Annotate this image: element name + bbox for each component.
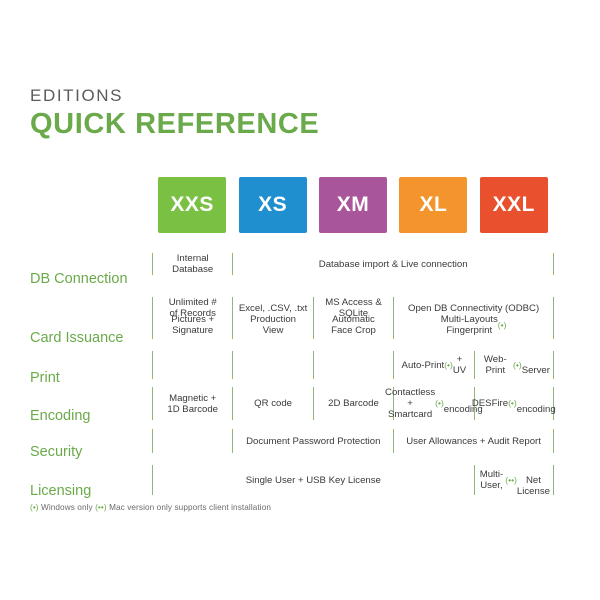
- row-cells: Single User + USB Key LicenseMulti-User,…: [152, 465, 554, 495]
- matrix-subrow: Magnetic +1D BarcodeQR code2D BarcodeCon…: [152, 387, 554, 420]
- matrix-cell: Auto-Print (•) +UV: [393, 351, 473, 379]
- row-label-encoding: Encoding: [30, 408, 90, 424]
- matrix-cell: [152, 351, 232, 379]
- matrix-row: DB ConnectionInternalDatabaseDatabase im…: [0, 253, 600, 297]
- matrix-cell: Contactless +Smartcard (•)encoding: [393, 387, 473, 420]
- matrix-cell: [232, 351, 312, 379]
- edition-tile-label: XL: [399, 177, 467, 233]
- row-label-security: Security: [30, 444, 82, 460]
- row-cells: InternalDatabaseDatabase import & Live c…: [152, 253, 554, 297]
- edition-tiles: XXSXSXMXLXXL: [152, 176, 554, 234]
- matrix-cell: Document Password Protection: [232, 429, 393, 453]
- matrix-subrow: Single User + USB Key LicenseMulti-User,…: [152, 465, 554, 495]
- matrix-cell: Single User + USB Key License: [152, 465, 474, 495]
- edition-tile-label: XS: [239, 177, 307, 233]
- title-heading: QUICK REFERENCE: [30, 107, 319, 141]
- matrix-cell: QR code: [232, 387, 312, 420]
- row-label-card-issuance: Card Issuance: [30, 330, 124, 346]
- page-title: EDITIONS QUICK REFERENCE: [30, 86, 319, 141]
- matrix-row: SecurityDocument Password ProtectionUser…: [0, 429, 600, 453]
- footnote-text-1: Windows only: [41, 503, 93, 512]
- row-label-licensing: Licensing: [30, 483, 91, 499]
- row-cells: Pictures +SignatureProductionViewAutomat…: [152, 311, 554, 339]
- edition-tile-xl: XL: [393, 176, 473, 234]
- matrix-cell: Multi-LayoutsFingerprint (•): [393, 311, 554, 339]
- row-cells: Magnetic +1D BarcodeQR code2D BarcodeCon…: [152, 387, 554, 420]
- row-label-db-connection: DB Connection: [30, 271, 128, 287]
- footnote-mark-1: (•): [30, 503, 39, 512]
- edition-tile-xxs: XXS: [152, 176, 232, 234]
- row-cells: Document Password ProtectionUser Allowan…: [152, 429, 554, 453]
- footnote-mark-2: (••): [95, 503, 107, 512]
- matrix-cell: [152, 429, 232, 453]
- matrix-cell: [313, 351, 393, 379]
- matrix-cell: DESFire (•)encoding: [474, 387, 554, 420]
- title-subtitle: EDITIONS: [30, 86, 319, 106]
- edition-tile-xxl: XXL: [474, 176, 554, 234]
- row-cells: Auto-Print (•) +UVWeb-Print (•)Server: [152, 351, 554, 379]
- matrix-subrow: InternalDatabaseDatabase import & Live c…: [152, 253, 554, 275]
- edition-tile-label: XXS: [158, 177, 226, 233]
- matrix-cell: InternalDatabase: [152, 253, 232, 275]
- row-label-print: Print: [30, 370, 60, 386]
- footnote-text-2: Mac version only supports client install…: [109, 503, 271, 512]
- matrix-cell: AutomaticFace Crop: [313, 311, 393, 339]
- matrix-subrow: Pictures +SignatureProductionViewAutomat…: [152, 311, 554, 339]
- edition-tile-xm: XM: [313, 176, 393, 234]
- matrix-cell: ProductionView: [232, 311, 312, 339]
- edition-tiles-row: XXSXSXMXLXXL: [152, 176, 554, 234]
- matrix-subrow: Auto-Print (•) +UVWeb-Print (•)Server: [152, 351, 554, 379]
- matrix-cell: Pictures +Signature: [152, 311, 232, 339]
- matrix-row: Card IssuancePictures +SignatureProducti…: [0, 311, 600, 339]
- footnote: (•) Windows only (••) Mac version only s…: [30, 503, 271, 512]
- matrix-row: PrintAuto-Print (•) +UVWeb-Print (•)Serv…: [0, 351, 600, 379]
- matrix-row: EncodingMagnetic +1D BarcodeQR code2D Ba…: [0, 387, 600, 420]
- matrix-cell: Web-Print (•)Server: [474, 351, 554, 379]
- matrix-cell: Multi-User, (••)Net License: [474, 465, 554, 495]
- edition-tile-label: XM: [319, 177, 387, 233]
- matrix-cell: Magnetic +1D Barcode: [152, 387, 232, 420]
- edition-tile-label: XXL: [480, 177, 548, 233]
- matrix-subrow: Document Password ProtectionUser Allowan…: [152, 429, 554, 453]
- quick-reference-page: EDITIONS QUICK REFERENCE XXSXSXMXLXXL DB…: [0, 0, 600, 600]
- matrix-cell: Database import & Live connection: [232, 253, 554, 275]
- matrix-row: LicensingSingle User + USB Key LicenseMu…: [0, 465, 600, 495]
- matrix-cell: User Allowances + Audit Report: [393, 429, 554, 453]
- edition-tile-xs: XS: [232, 176, 312, 234]
- matrix-cell: 2D Barcode: [313, 387, 393, 420]
